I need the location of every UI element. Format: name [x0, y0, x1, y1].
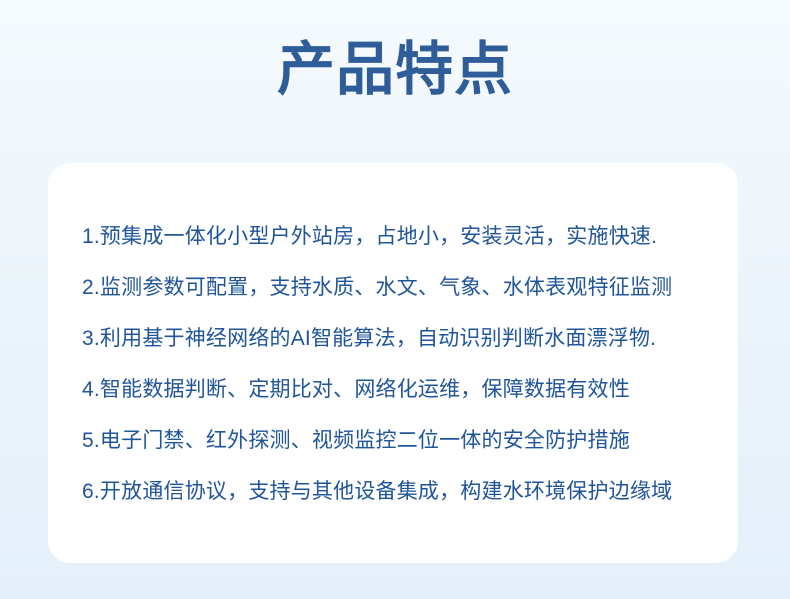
feature-card: 1.预集成一体化小型户外站房，占地小，安装灵活，实施快速. 2.监测参数可配置，…: [48, 163, 738, 563]
list-item: 6.开放通信协议，支持与其他设备集成，构建水环境保护边缘域: [82, 466, 718, 517]
list-item: 5.电子门禁、红外探测、视频监控二位一体的安全防护措施: [82, 415, 718, 466]
feature-list: 1.预集成一体化小型户外站房，占地小，安装灵活，实施快速. 2.监测参数可配置，…: [82, 211, 718, 517]
list-item: 1.预集成一体化小型户外站房，占地小，安装灵活，实施快速.: [82, 211, 718, 262]
list-item: 4.智能数据判断、定期比对、网络化运维，保障数据有效性: [82, 364, 718, 415]
page-title: 产品特点: [0, 38, 790, 102]
list-item: 2.监测参数可配置，支持水质、水文、气象、水体表观特征监测: [82, 262, 718, 313]
list-item: 3.利用基于神经网络的AI智能算法，自动识别判断水面漂浮物.: [82, 313, 718, 364]
product-features-page: 产品特点 1.预集成一体化小型户外站房，占地小，安装灵活，实施快速. 2.监测参…: [0, 0, 790, 599]
